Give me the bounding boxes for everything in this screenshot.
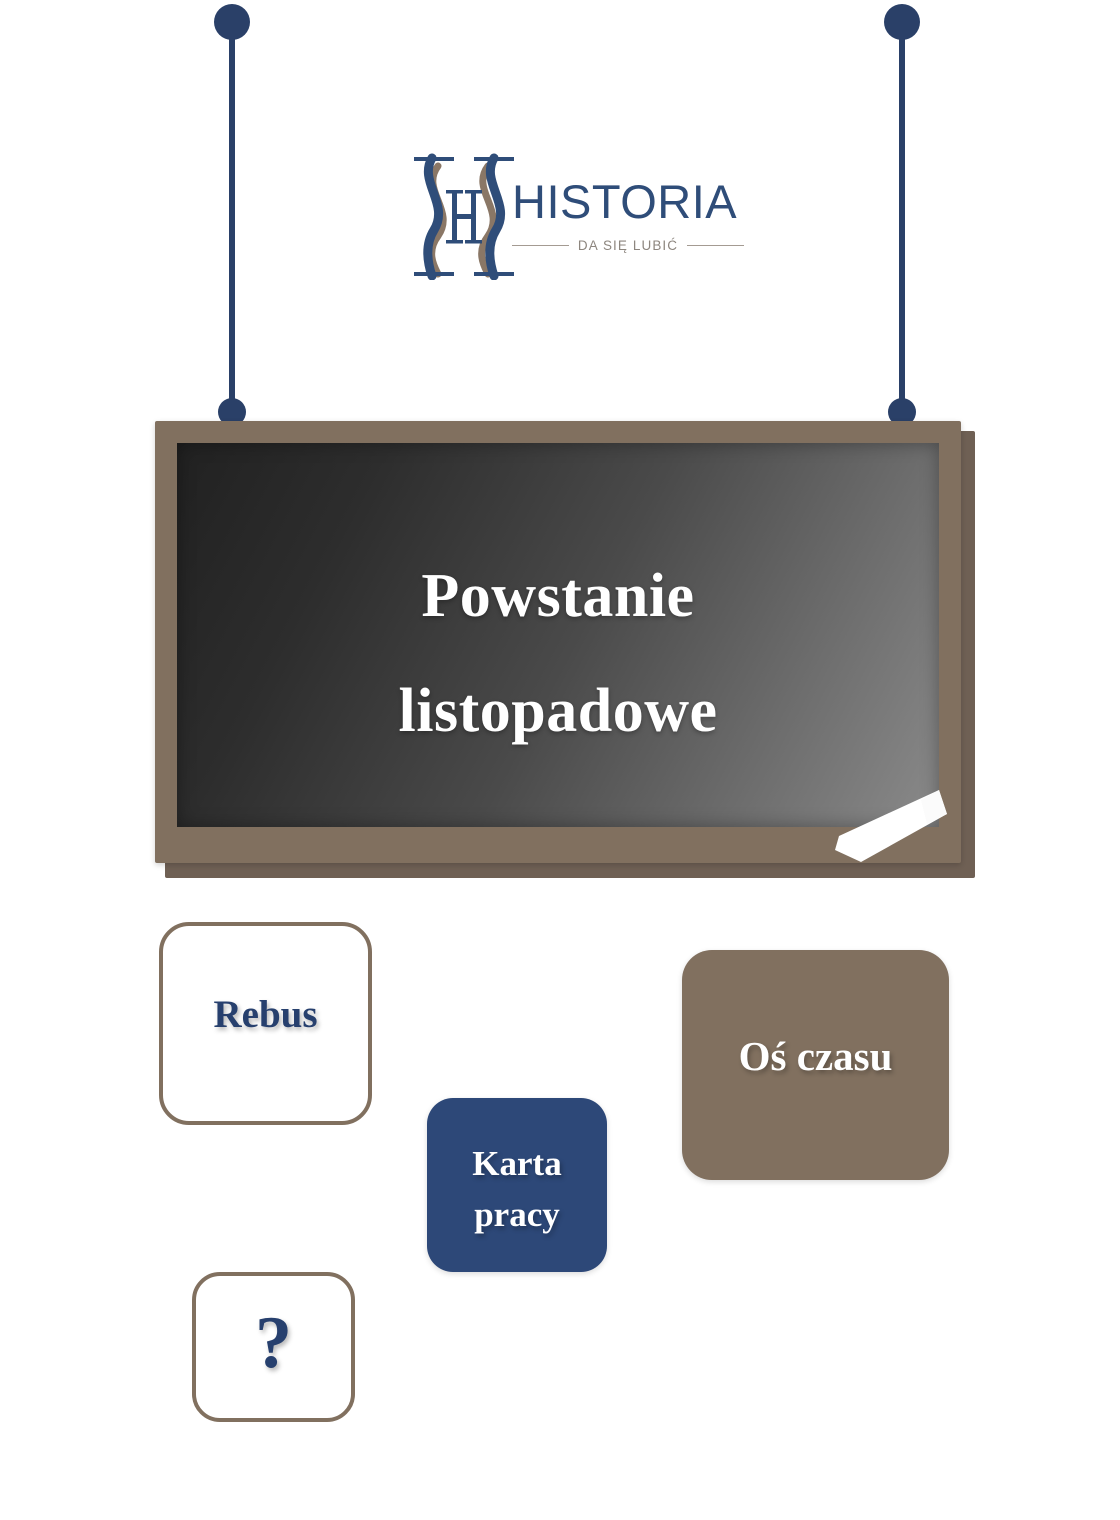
question-mark-button[interactable]: ?	[192, 1272, 355, 1422]
tagline-rule-left	[512, 245, 569, 246]
os-czasu-button-label: Oś czasu	[739, 1031, 893, 1082]
blackboard-surface: Powstanie listopadowe	[177, 443, 939, 827]
karta-pracy-button[interactable]: Karta pracy	[427, 1098, 607, 1272]
brand-logo: HISTORIA DA SIĘ LUBIĆ	[408, 148, 738, 288]
pin-rod	[899, 22, 905, 412]
brand-wordmark: HISTORIA DA SIĘ LUBIĆ	[512, 178, 742, 253]
tagline-rule-right	[687, 245, 744, 246]
monogram-h-icon	[408, 148, 518, 280]
rebus-button-label: Rebus	[213, 991, 317, 1040]
blackboard-frame: Powstanie listopadowe	[155, 421, 961, 863]
karta-pracy-button-label: Karta pracy	[472, 1139, 561, 1241]
pin-rod	[229, 22, 235, 412]
brand-tagline-row: DA SIĘ LUBIĆ	[512, 238, 744, 253]
page-title-line-1: Powstanie	[177, 539, 939, 654]
poster-canvas: HISTORIA DA SIĘ LUBIĆ Powstanie listopad…	[0, 0, 1120, 1520]
os-czasu-button[interactable]: Oś czasu	[682, 950, 949, 1180]
rebus-button[interactable]: Rebus	[159, 922, 372, 1125]
page-title: Powstanie listopadowe	[177, 539, 939, 768]
question-mark-icon: ?	[255, 1306, 292, 1380]
page-title-line-2: listopadowe	[177, 654, 939, 769]
blackboard: Powstanie listopadowe	[155, 421, 965, 871]
brand-name: HISTORIA	[512, 178, 742, 225]
brand-tagline: DA SIĘ LUBIĆ	[578, 238, 678, 253]
